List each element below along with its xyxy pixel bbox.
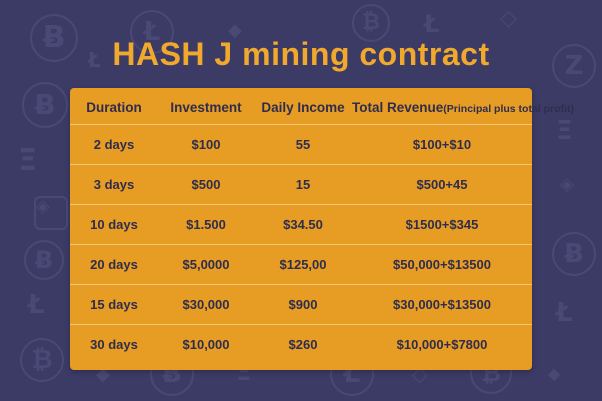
cell-duration: 20 days [70, 245, 158, 285]
cell-daily-income: $900 [254, 285, 352, 325]
cell-investment: $10,000 [158, 325, 254, 365]
cell-investment: $100 [158, 125, 254, 165]
decorative-coin-icon: Ƀ [22, 82, 68, 128]
decorative-coin-icon: ◇ [500, 8, 517, 30]
table-row: 2 days$10055$100+$10 [70, 125, 532, 165]
cell-investment: $30,000 [158, 285, 254, 325]
cell-daily-income: $125,00 [254, 245, 352, 285]
cell-duration: 15 days [70, 285, 158, 325]
cell-investment: $5,0000 [158, 245, 254, 285]
decorative-coin-icon: Ƀ [24, 240, 64, 280]
cell-daily-income: $34.50 [254, 205, 352, 245]
column-header-daily-income: Daily Income [254, 92, 352, 125]
table-row: 20 days$5,0000$125,00$50,000+$13500 [70, 245, 532, 285]
cell-duration: 2 days [70, 125, 158, 165]
decorative-coin-icon: ◈ [34, 196, 68, 230]
page-title: HASH J mining contract [0, 36, 602, 73]
cell-total-revenue: $100+$10 [352, 125, 532, 165]
cell-investment: $500 [158, 165, 254, 205]
cell-daily-income: 55 [254, 125, 352, 165]
cell-duration: 3 days [70, 165, 158, 205]
decorative-coin-icon: Ł [28, 292, 45, 318]
decorative-coin-icon: ◆ [548, 366, 560, 382]
cell-investment: $1.500 [158, 205, 254, 245]
header-row: Duration Investment Daily Income Total R… [70, 92, 532, 125]
cell-daily-income: 15 [254, 165, 352, 205]
table-row: 30 days$10,000$260$10,000+$7800 [70, 325, 532, 365]
poster-canvas: ɃŁ◆₿Ł◇ZɃΞ◈ɃŁ₿◆ɃΞŁ◇₿ŁɃ◈ΞŁ◆ HASH J mining … [0, 0, 602, 401]
cell-total-revenue: $500+45 [352, 165, 532, 205]
table-body: 2 days$10055$100+$103 days$50015$500+451… [70, 125, 532, 365]
decorative-coin-icon: Ξ [18, 146, 37, 176]
cell-duration: 10 days [70, 205, 158, 245]
table-header: Duration Investment Daily Income Total R… [70, 92, 532, 125]
cell-total-revenue: $10,000+$7800 [352, 325, 532, 365]
column-header-total-revenue-note: (Principal plus total profit) [443, 103, 574, 115]
pricing-table-card: Duration Investment Daily Income Total R… [70, 88, 532, 370]
decorative-coin-icon: Ƀ [552, 232, 596, 276]
decorative-coin-icon: ₿ [20, 338, 64, 382]
decorative-coin-icon: Ł [424, 12, 439, 36]
table-row: 15 days$30,000$900$30,000+$13500 [70, 285, 532, 325]
cell-total-revenue: $30,000+$13500 [352, 285, 532, 325]
column-header-total-revenue: Total Revenue(Principal plus total profi… [352, 92, 532, 125]
table-row: 10 days$1.500$34.50$1500+$345 [70, 205, 532, 245]
decorative-coin-icon: Ξ [556, 118, 572, 144]
cell-daily-income: $260 [254, 325, 352, 365]
column-header-investment: Investment [158, 92, 254, 125]
table-row: 3 days$50015$500+45 [70, 165, 532, 205]
cell-total-revenue: $1500+$345 [352, 205, 532, 245]
mining-contract-table: Duration Investment Daily Income Total R… [70, 92, 532, 364]
cell-total-revenue: $50,000+$13500 [352, 245, 532, 285]
decorative-coin-icon: ◈ [560, 176, 574, 194]
decorative-coin-icon: Ł [556, 300, 573, 326]
column-header-duration: Duration [70, 92, 158, 125]
column-header-total-revenue-label: Total Revenue [352, 100, 443, 115]
cell-duration: 30 days [70, 325, 158, 365]
